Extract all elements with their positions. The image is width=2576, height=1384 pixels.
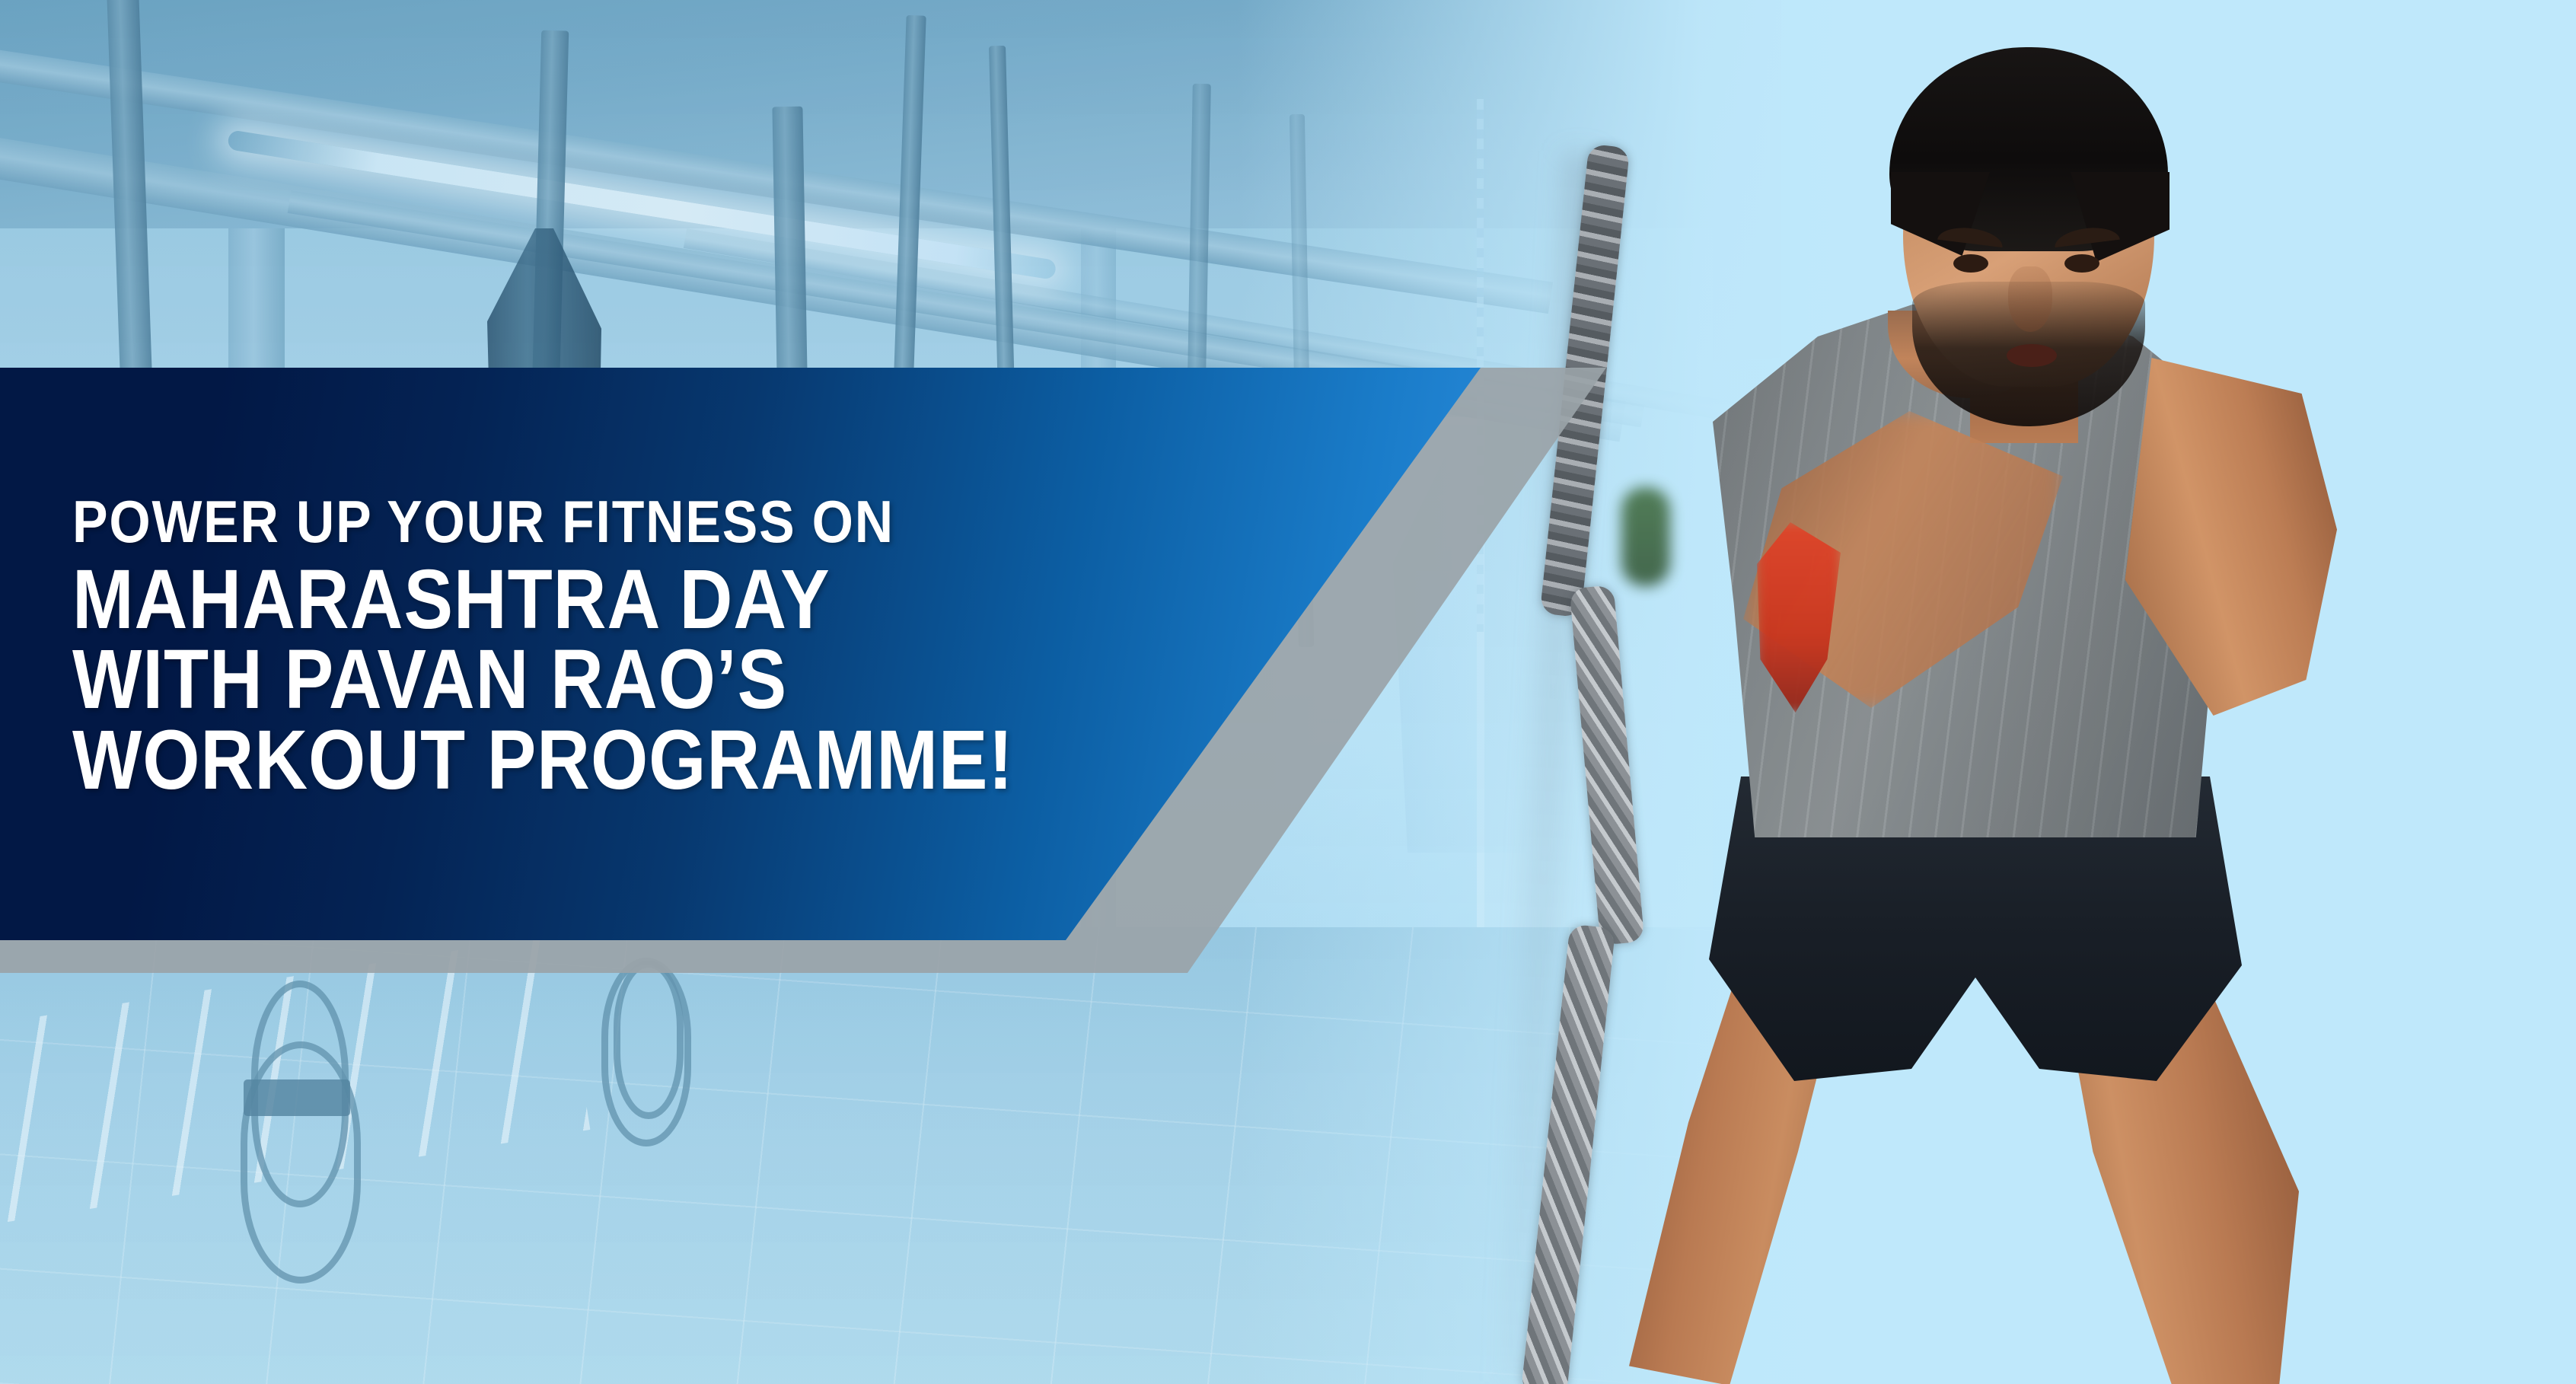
rope-handle-green [1621, 487, 1670, 586]
promo-banner: POWER UP YOUR FITNESS ON MAHARASHTRA DAY… [0, 0, 2576, 1384]
headline-block: POWER UP YOUR FITNESS ON MAHARASHTRA DAY… [72, 493, 1142, 801]
headline-line-2: MAHARASHTRA DAY [72, 560, 1013, 640]
athlete-eye [1953, 254, 1988, 273]
athlete-mouth [2007, 344, 2057, 367]
athlete-nose [2008, 266, 2052, 332]
athlete-eye [2064, 254, 2099, 273]
headline-line-1: POWER UP YOUR FITNESS ON [72, 493, 1030, 550]
headline-line-3: WITH PAVAN RAO’S [72, 639, 1013, 720]
athlete-figure [1515, 0, 2576, 1384]
headline-line-4: WORKOUT PROGRAMME! [72, 720, 1013, 801]
